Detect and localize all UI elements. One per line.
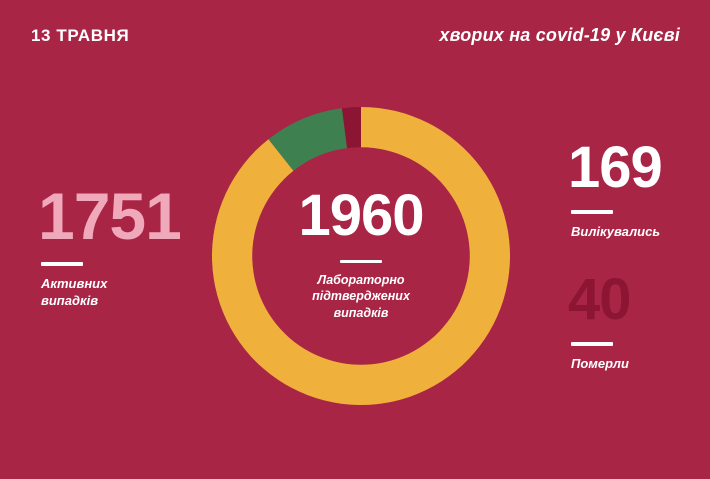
stat-active-cases: 1751 Активних випадків: [38, 185, 181, 309]
stat-recovered-divider: [571, 210, 613, 214]
stat-deaths-label: Померли: [571, 356, 631, 372]
header-title: хворих на covid-19 у Києві: [439, 25, 680, 46]
stat-deaths-divider: [571, 342, 613, 346]
header-date: 13 ТРАВНЯ: [31, 26, 129, 46]
stat-recovered-label: Вилікувались: [571, 224, 662, 240]
stat-recovered: 169 Вилікувались: [568, 140, 662, 240]
donut-segments: Активних випадків: 1751Вилікувались: 169…: [212, 107, 510, 405]
stat-active-value: 1751: [38, 185, 181, 248]
donut-chart: Активних випадків: 1751Вилікувались: 169…: [212, 107, 510, 405]
stat-active-divider: [41, 262, 83, 266]
infographic-canvas: 13 ТРАВНЯ хворих на covid-19 у Києві 175…: [0, 0, 710, 479]
stat-deaths-value: 40: [568, 272, 631, 328]
stat-recovered-value: 169: [568, 140, 662, 196]
donut-segment-0: Активних випадків: 1751: [212, 107, 510, 405]
stat-active-label: Активних випадків: [41, 276, 181, 309]
donut-svg: Активних випадків: 1751Вилікувались: 169…: [212, 107, 510, 405]
stat-deaths: 40 Померли: [568, 272, 631, 372]
